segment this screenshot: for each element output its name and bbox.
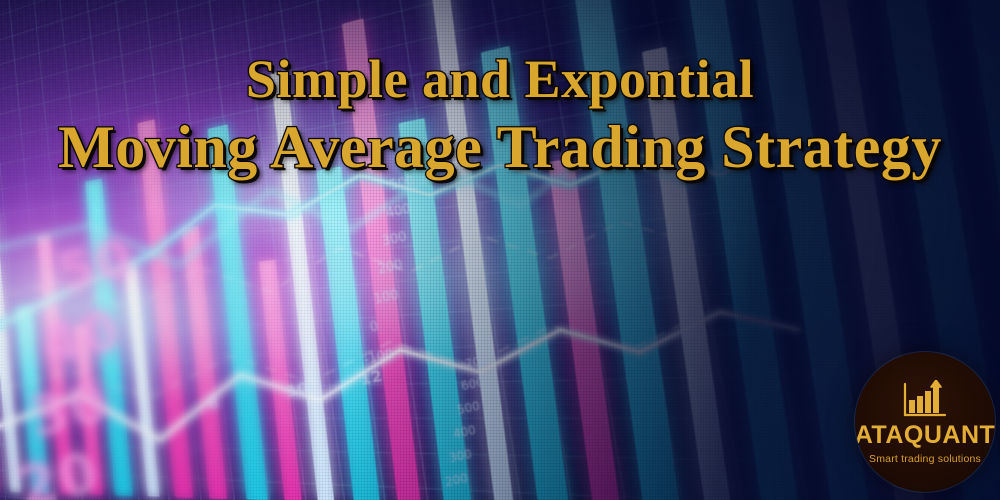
background-lower-axis-labels: 700 600 500 400 300 200 bbox=[395, 355, 535, 500]
logo-name: ATAQUANT bbox=[855, 423, 995, 448]
background-x-axis-labels: 8 10 12 bbox=[200, 360, 370, 420]
background-left-axis-labels: 50 40 30 20 bbox=[18, 0, 208, 500]
bar-chart-up-arrow-icon bbox=[899, 380, 951, 420]
ataquant-logo[interactable]: ATAQUANT Smart trading solutions bbox=[855, 352, 995, 492]
logo-tagline: Smart trading solutions bbox=[869, 454, 981, 465]
banner-image: 50 40 30 20 600 500 400 300 200 100 0 -1… bbox=[0, 0, 1000, 500]
